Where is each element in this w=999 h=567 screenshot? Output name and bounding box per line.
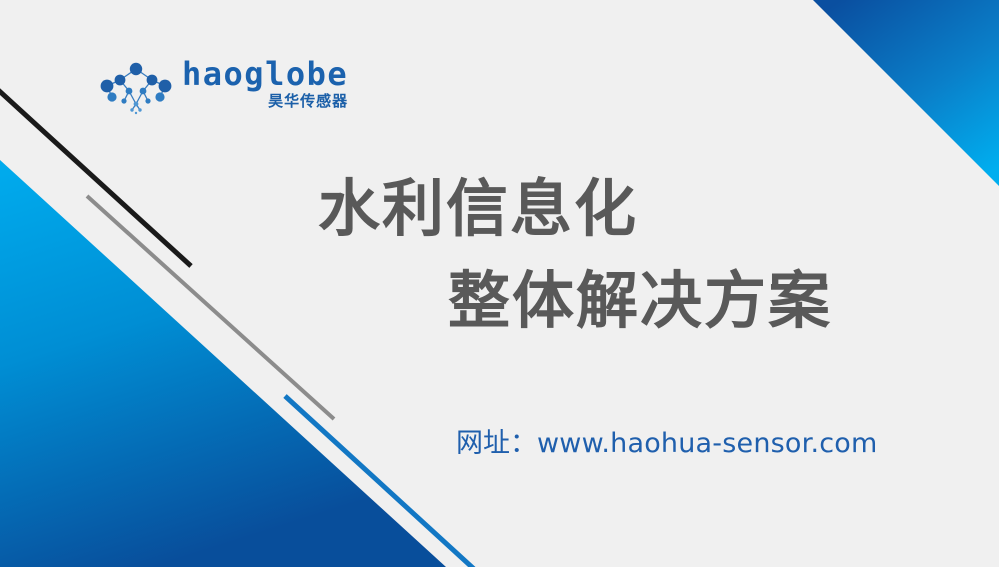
title-line-2: 整体解决方案 (0, 255, 999, 347)
title-line-1: 水利信息化 (0, 163, 999, 255)
slide-title: 水利信息化 整体解决方案 (0, 163, 999, 347)
blue-diagonal-line (285, 396, 474, 567)
company-logo[interactable]: haoglobe 昊华传感器 (98, 58, 323, 120)
presentation-title-slide: haoglobe 昊华传感器 水利信息化 整体解决方案 网址：www.haohu… (0, 0, 999, 567)
website-line[interactable]: 网址：www.haohua-sensor.com (456, 423, 878, 464)
website-url[interactable]: www.haohua-sensor.com (537, 428, 878, 459)
logo-subtitle-chinese: 昊华传感器 (268, 93, 348, 110)
molecular-network-icon (98, 60, 174, 116)
logo-wordmark: haoglobe (182, 58, 348, 92)
top-right-blue-triangle (813, 0, 999, 186)
website-label: 网址： (456, 428, 537, 459)
